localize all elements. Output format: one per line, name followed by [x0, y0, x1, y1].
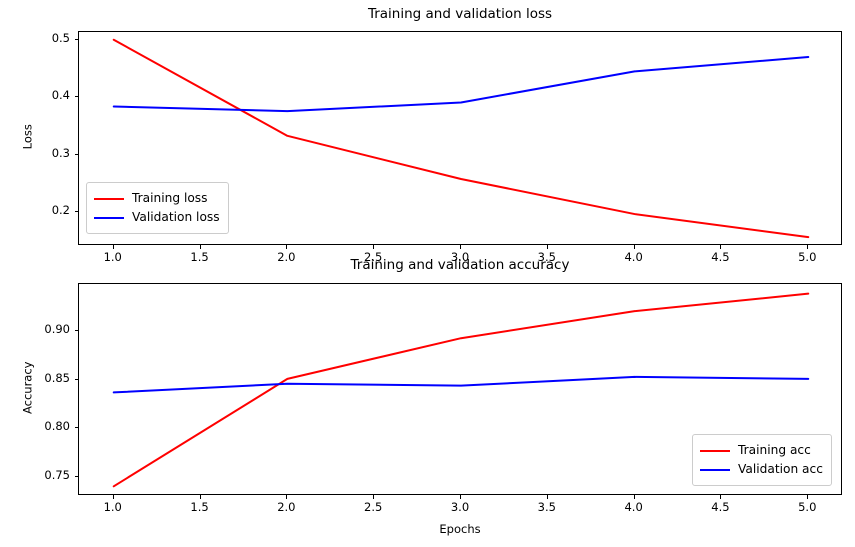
x-tick-mark — [807, 495, 808, 499]
legend-line-swatch — [700, 469, 730, 471]
legend-line-swatch — [94, 198, 124, 200]
x-tick-mark — [807, 245, 808, 249]
x-tick-label: 5.0 — [777, 502, 837, 514]
y-tick-label: 0.85 — [8, 373, 70, 385]
y-tick-mark — [75, 154, 79, 155]
y-tick-label: 0.4 — [8, 90, 70, 102]
y-tick-mark — [75, 427, 79, 428]
loss-legend: Training loss Validation loss — [86, 182, 229, 234]
legend-label: Training loss — [132, 192, 208, 204]
x-tick-label: 3.5 — [517, 502, 577, 514]
y-tick-label: 0.5 — [8, 33, 70, 45]
legend-line-swatch — [700, 450, 730, 452]
x-tick-label: 1.0 — [83, 502, 143, 514]
y-tick-mark — [75, 476, 79, 477]
y-tick-label: 0.90 — [8, 324, 70, 336]
legend-item: Validation loss — [94, 208, 220, 227]
x-tick-mark — [547, 245, 548, 249]
x-tick-mark — [460, 245, 461, 249]
legend-item: Training acc — [700, 441, 823, 460]
x-tick-label: 2.5 — [343, 502, 403, 514]
x-tick-mark — [373, 495, 374, 499]
y-tick-mark — [75, 96, 79, 97]
matplotlib-figure: Training and validation loss Loss 0.20.3… — [0, 0, 855, 547]
x-tick-label: 4.5 — [690, 502, 750, 514]
x-tick-mark — [720, 245, 721, 249]
y-tick-label: 0.2 — [8, 205, 70, 217]
accuracy-y-axis-label: Accuracy — [22, 348, 34, 428]
x-tick-mark — [634, 245, 635, 249]
x-tick-mark — [720, 495, 721, 499]
legend-item: Validation acc — [700, 460, 823, 479]
legend-label: Validation acc — [738, 463, 823, 475]
x-tick-mark — [373, 245, 374, 249]
x-tick-label: 4.0 — [604, 502, 664, 514]
legend-label: Training acc — [738, 444, 811, 456]
data-line — [114, 377, 809, 392]
x-tick-mark — [286, 495, 287, 499]
data-line — [114, 57, 809, 111]
legend-line-swatch — [94, 217, 124, 219]
y-tick-mark — [75, 379, 79, 380]
legend-item: Training loss — [94, 189, 220, 208]
x-tick-mark — [113, 245, 114, 249]
accuracy-chart-title: Training and validation accuracy — [78, 259, 842, 273]
x-tick-mark — [460, 495, 461, 499]
x-tick-mark — [634, 495, 635, 499]
y-tick-label: 0.3 — [8, 148, 70, 160]
x-tick-mark — [286, 245, 287, 249]
x-tick-mark — [113, 495, 114, 499]
y-tick-label: 0.75 — [8, 470, 70, 482]
y-tick-label: 0.80 — [8, 421, 70, 433]
y-tick-mark — [75, 39, 79, 40]
y-tick-mark — [75, 330, 79, 331]
x-tick-mark — [200, 495, 201, 499]
loss-chart-title: Training and validation loss — [78, 8, 842, 22]
accuracy-legend: Training acc Validation acc — [692, 434, 832, 486]
x-tick-mark — [547, 495, 548, 499]
accuracy-x-axis-label: Epochs — [78, 524, 842, 536]
x-tick-label: 1.5 — [170, 502, 230, 514]
legend-label: Validation loss — [132, 211, 220, 223]
x-tick-label: 3.0 — [430, 502, 490, 514]
x-tick-label: 2.0 — [256, 502, 316, 514]
x-tick-mark — [200, 245, 201, 249]
y-tick-mark — [75, 211, 79, 212]
